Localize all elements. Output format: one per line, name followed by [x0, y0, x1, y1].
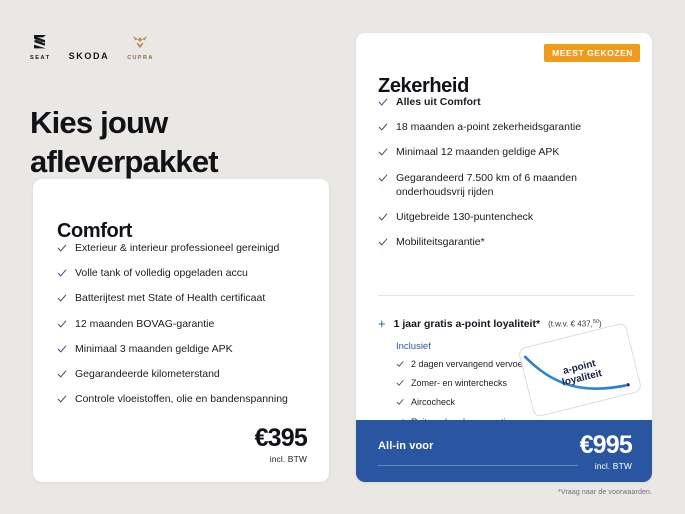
- cupra-mark-icon: [132, 35, 148, 53]
- check-icon: [57, 344, 67, 354]
- check-icon: [378, 122, 388, 132]
- list-item-label: Zomer- en winterchecks: [411, 378, 507, 390]
- list-item: Exterieur & interieur professioneel gere…: [57, 241, 307, 255]
- loyalty-offer-label: 1 jaar gratis a-point loyaliteit*: [394, 318, 540, 330]
- check-icon: [378, 212, 388, 222]
- list-item-label: Gegarandeerd 7.500 km of 6 maanden onder…: [396, 171, 634, 199]
- check-icon: [57, 268, 67, 278]
- list-item-label: Controle vloeistoffen, olie en bandenspa…: [75, 392, 288, 406]
- zekerheid-feature-list: Alles uit Comfort 18 maanden a-point zek…: [378, 95, 634, 260]
- check-icon: [396, 398, 404, 406]
- cupra-wordmark: CUPRA: [127, 56, 154, 62]
- skoda-wordmark: SKODA: [69, 52, 110, 61]
- list-item-label: Volle tank of volledig opgeladen accu: [75, 266, 248, 280]
- loyalty-offer-value: (t.w.v. € 437,50): [548, 319, 602, 329]
- list-item: Gegarandeerd 7.500 km of 6 maanden onder…: [378, 171, 634, 199]
- check-icon: [57, 394, 67, 404]
- list-item-label: 12 maanden BOVAG-garantie: [75, 317, 214, 331]
- comfort-feature-list: Exterieur & interieur professioneel gere…: [57, 241, 307, 417]
- check-icon: [378, 97, 388, 107]
- list-item: Gegarandeerde kilometerstand: [57, 367, 307, 381]
- check-icon: [57, 293, 67, 303]
- list-item-label: Alles uit Comfort: [396, 95, 481, 109]
- check-icon: [57, 369, 67, 379]
- list-item-label: Aircocheck: [411, 397, 455, 409]
- allin-label: All-in voor: [378, 440, 434, 452]
- cupra-logo: CUPRA: [127, 35, 154, 61]
- skoda-logo: SKODA: [69, 52, 110, 61]
- list-item: Controle vloeistoffen, olie en bandenspa…: [57, 392, 307, 406]
- page-root: SEAT SKODA CUPRA Kies jouw afleverpakket…: [0, 0, 685, 514]
- list-item-label: Mobiliteitsgarantie*: [396, 235, 485, 249]
- package-card-comfort[interactable]: Comfort Exterieur & interieur profession…: [33, 179, 329, 482]
- comfort-price-note: incl. BTW: [255, 454, 307, 464]
- list-item: Volle tank of volledig opgeladen accu: [57, 266, 307, 280]
- zekerheid-price-footer: All-in voor €995 incl. BTW: [356, 420, 652, 482]
- check-icon: [57, 319, 67, 329]
- page-title-line-1: Kies jouw: [30, 105, 168, 140]
- list-item-label: Minimaal 12 maanden geldige APK: [396, 145, 559, 159]
- page-title: Kies jouw afleverpakket: [30, 103, 218, 182]
- check-icon: [378, 237, 388, 247]
- section-divider: [378, 295, 634, 296]
- loyalty-value-prefix: (t.w.v. € 437,: [548, 320, 593, 329]
- list-item: Mobiliteitsgarantie*: [378, 235, 634, 249]
- list-item: Uitgebreide 130-puntencheck: [378, 210, 634, 224]
- loyalty-card-graphic: a-point loyaliteit: [517, 322, 643, 419]
- check-icon: [378, 173, 388, 183]
- status-badge: MEEST GEKOZEN: [544, 44, 640, 62]
- zekerheid-price-note: incl. BTW: [580, 461, 632, 471]
- footer-divider: [378, 465, 578, 466]
- list-item: 12 maanden BOVAG-garantie: [57, 317, 307, 331]
- check-icon: [396, 360, 404, 368]
- list-item-label: 2 dagen vervangend vervoer: [411, 359, 526, 371]
- brand-logo-row: SEAT SKODA CUPRA: [30, 34, 154, 61]
- list-item-label: Batterijtest met State of Health certifi…: [75, 291, 265, 305]
- seat-wordmark: SEAT: [30, 56, 51, 62]
- package-card-zekerheid[interactable]: MEEST GEKOZEN Zekerheid Alles uit Comfor…: [356, 33, 652, 482]
- comfort-price-block: €395 incl. BTW: [255, 426, 307, 464]
- list-item-label: Minimaal 3 maanden geldige APK: [75, 342, 233, 356]
- list-item: Minimaal 12 maanden geldige APK: [378, 145, 634, 159]
- list-item: 18 maanden a-point zekerheidsgarantie: [378, 120, 634, 134]
- zekerheid-price: €995: [580, 433, 632, 458]
- list-item: Minimaal 3 maanden geldige APK: [57, 342, 307, 356]
- comfort-title: Comfort: [57, 220, 132, 243]
- seat-mark-icon: [33, 34, 47, 53]
- check-icon: [57, 243, 67, 253]
- check-icon: [396, 379, 404, 387]
- page-title-line-2: afleverpakket: [30, 144, 218, 179]
- comfort-price: €395: [255, 426, 307, 451]
- list-item-label: Gegarandeerde kilometerstand: [75, 367, 220, 381]
- disclaimer-text: *Vraag naar de voorwaarden.: [558, 489, 652, 496]
- list-item-label: 18 maanden a-point zekerheidsgarantie: [396, 120, 581, 134]
- check-icon: [378, 147, 388, 157]
- list-item: Batterijtest met State of Health certifi…: [57, 291, 307, 305]
- plus-icon: +: [378, 317, 386, 330]
- zekerheid-price-block: €995 incl. BTW: [580, 433, 632, 471]
- list-item-label: Uitgebreide 130-puntencheck: [396, 210, 533, 224]
- list-item: Alles uit Comfort: [378, 95, 634, 109]
- list-item-label: Exterieur & interieur professioneel gere…: [75, 241, 279, 255]
- seat-logo: SEAT: [30, 34, 51, 61]
